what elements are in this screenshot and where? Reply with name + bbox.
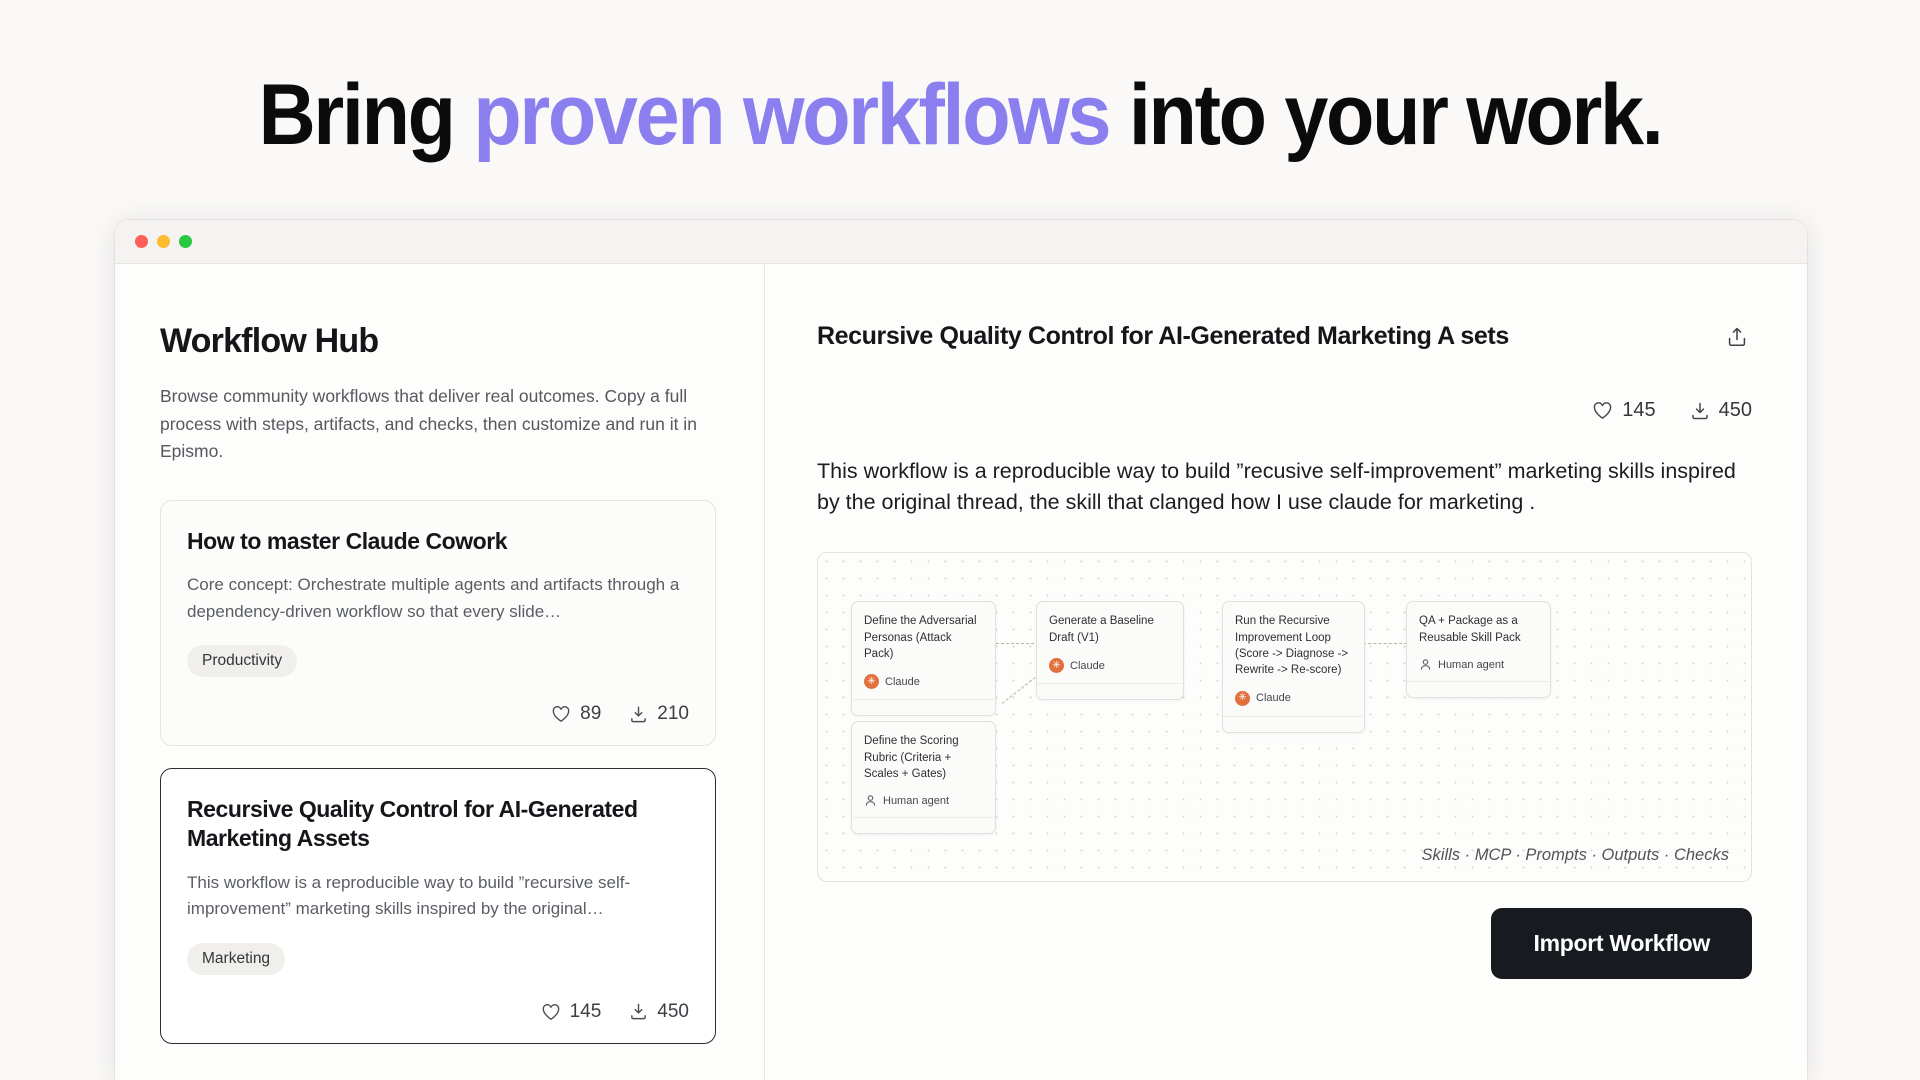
likes-stat[interactable]: 145 <box>541 1001 602 1023</box>
workflow-card-productivity[interactable]: How to master Claude Cowork Core concept… <box>160 500 716 746</box>
headline-part1: Bring <box>259 67 474 163</box>
workflow-card-marketing[interactable]: Recursive Quality Control for AI-Generat… <box>160 768 716 1044</box>
downloads-count: 210 <box>657 703 689 725</box>
sidebar-description: Browse community workflows that deliver … <box>160 383 700 466</box>
node-title: Generate a Baseline Draft (V1) <box>1049 613 1171 646</box>
downloads-stat[interactable]: 450 <box>1690 399 1752 422</box>
node-agent-label: Claude <box>885 676 920 688</box>
downloads-count: 450 <box>657 1001 689 1023</box>
node-agent: ✳ Claude <box>1049 658 1171 673</box>
node-footer <box>852 817 995 833</box>
person-icon <box>864 794 877 807</box>
status-badge: Productivity <box>187 645 297 677</box>
node-title: Run the Recursive Improvement Loop (Scor… <box>1235 613 1352 678</box>
diagram-node-1[interactable]: Define the Adversarial Personas (Attack … <box>851 601 996 716</box>
node-agent: ✳ Claude <box>1235 691 1352 706</box>
person-icon <box>1419 658 1432 671</box>
likes-count: 145 <box>1622 399 1655 422</box>
workflow-card-title: Recursive Quality Control for AI-Generat… <box>187 795 689 854</box>
canvas-caption: Skills · MCP · Prompts · Outputs · Check… <box>1422 846 1729 865</box>
detail-panel: Recursive Quality Control for AI-Generat… <box>765 264 1807 1080</box>
minimize-icon[interactable] <box>157 235 170 248</box>
window-body: Workflow Hub Browse community workflows … <box>115 264 1807 1080</box>
import-row: Import Workflow <box>817 908 1752 979</box>
workflow-card-stats: 89 210 <box>187 703 689 725</box>
node-footer <box>1223 716 1364 732</box>
claude-icon: ✳ <box>1235 691 1250 706</box>
workflow-card-title: How to master Claude Cowork <box>187 527 689 556</box>
workflow-card-description: This workflow is a reproducible way to b… <box>187 870 689 923</box>
node-agent-label: Human agent <box>1438 659 1504 671</box>
heart-icon <box>1592 401 1613 420</box>
likes-stat[interactable]: 145 <box>1592 399 1655 422</box>
maximize-icon[interactable] <box>179 235 192 248</box>
detail-title: Recursive Quality Control for AI-Generat… <box>817 322 1509 351</box>
diagram-node-3[interactable]: Generate a Baseline Draft (V1) ✳ Claude <box>1036 601 1184 700</box>
downloads-stat[interactable]: 450 <box>629 1001 689 1023</box>
node-footer <box>1407 681 1550 697</box>
download-icon <box>629 705 648 724</box>
node-agent-label: Claude <box>1070 660 1105 672</box>
import-workflow-button[interactable]: Import Workflow <box>1491 908 1752 979</box>
claude-icon: ✳ <box>1049 658 1064 673</box>
node-agent-label: Human agent <box>883 795 949 807</box>
node-footer <box>1037 683 1183 699</box>
sidebar: Workflow Hub Browse community workflows … <box>115 264 765 1080</box>
detail-header: Recursive Quality Control for AI-Generat… <box>817 322 1752 357</box>
diagram-node-4[interactable]: Run the Recursive Improvement Loop (Scor… <box>1222 601 1365 732</box>
node-title: Define the Scoring Rubric (Criteria + Sc… <box>864 733 983 782</box>
page-title: Workflow Hub <box>160 322 716 361</box>
detail-description: This workflow is a reproducible way to b… <box>817 456 1752 518</box>
detail-stats: 145 450 <box>817 399 1752 422</box>
headline-accent: proven workflows <box>473 67 1109 163</box>
downloads-stat[interactable]: 210 <box>629 703 689 725</box>
browser-window: Workflow Hub Browse community workflows … <box>115 220 1807 1080</box>
share-button[interactable] <box>1722 322 1752 357</box>
share-icon <box>1726 326 1748 348</box>
node-agent-label: Claude <box>1256 692 1291 704</box>
node-agent: ✳ Claude <box>864 674 983 689</box>
heart-icon <box>541 1003 561 1021</box>
diagram-node-2[interactable]: Define the Scoring Rubric (Criteria + Sc… <box>851 721 996 834</box>
likes-stat[interactable]: 89 <box>551 703 601 725</box>
node-title: QA + Package as a Reusable Skill Pack <box>1419 613 1538 646</box>
likes-count: 145 <box>570 1001 602 1023</box>
close-icon[interactable] <box>135 235 148 248</box>
workflow-card-description: Core concept: Orchestrate multiple agent… <box>187 572 689 625</box>
window-titlebar <box>115 220 1807 264</box>
workflow-diagram-canvas[interactable]: Define the Adversarial Personas (Attack … <box>817 552 1752 882</box>
node-agent: Human agent <box>864 794 983 807</box>
headline-part2: into your work. <box>1109 67 1661 163</box>
status-badge: Marketing <box>187 943 285 975</box>
node-title: Define the Adversarial Personas (Attack … <box>864 613 983 662</box>
downloads-count: 450 <box>1719 399 1752 422</box>
heart-icon <box>551 705 571 723</box>
diagram-node-5[interactable]: QA + Package as a Reusable Skill Pack Hu… <box>1406 601 1551 698</box>
workflow-card-stats: 145 450 <box>187 1001 689 1023</box>
page-headline: Bring proven workflows into your work. <box>77 0 1843 158</box>
claude-icon: ✳ <box>864 674 879 689</box>
node-agent: Human agent <box>1419 658 1538 671</box>
node-footer <box>852 699 995 715</box>
download-icon <box>629 1002 648 1021</box>
download-icon <box>1690 401 1710 421</box>
likes-count: 89 <box>580 703 601 725</box>
